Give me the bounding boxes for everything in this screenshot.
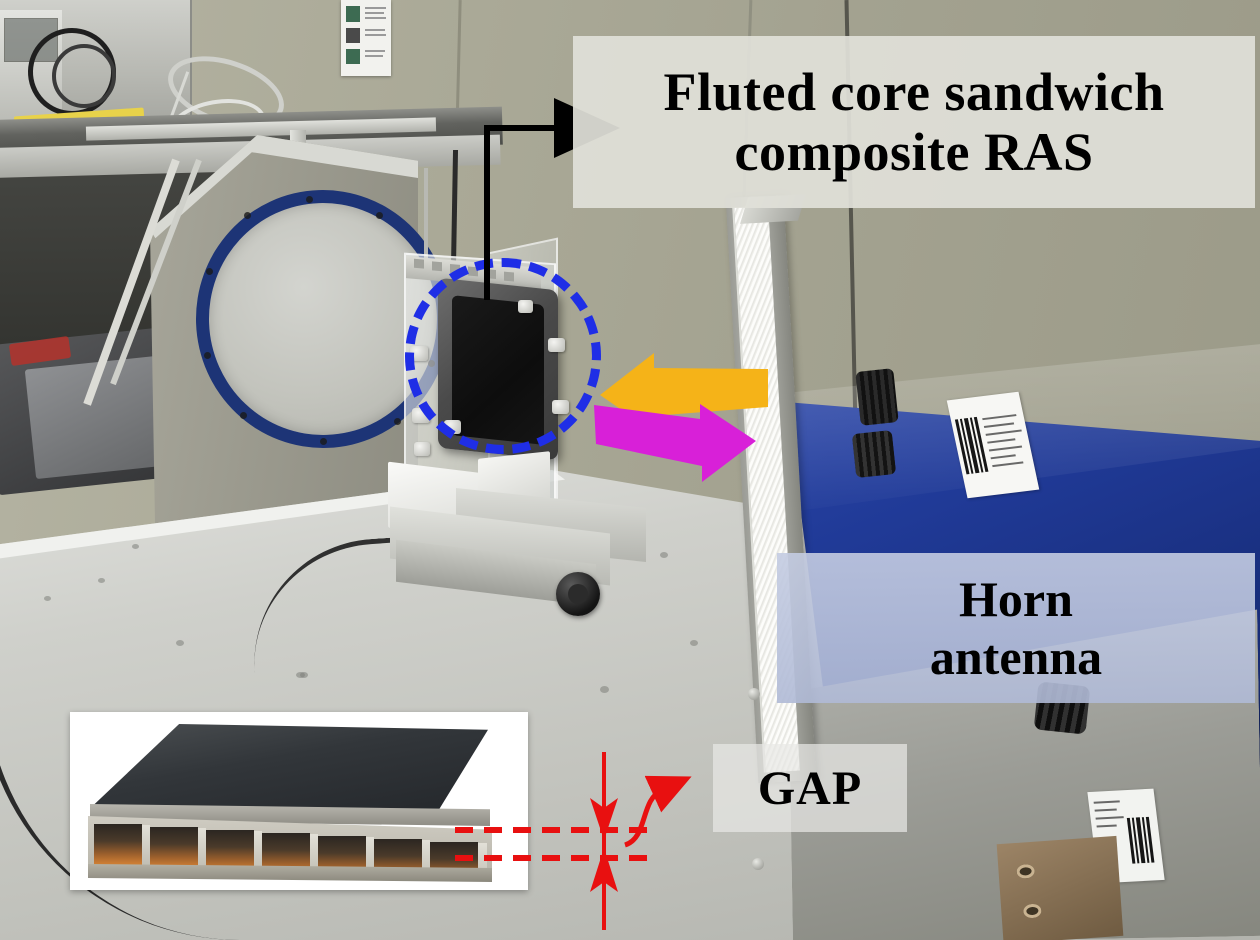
coiled-cable [52,44,116,108]
horn-adjust-knob[interactable] [852,430,896,478]
antenna-label-text: Hornantenna [930,570,1102,686]
table-hole [600,686,609,693]
sample-label-line1: Fluted core sandwich [663,62,1164,122]
sample-label-line2: composite RAS [735,122,1094,182]
fixture-bolt [414,442,430,456]
ring-bolt [320,438,327,445]
mounting-bracket [997,836,1124,940]
table-hole [98,578,105,583]
antenna-label-box: Hornantenna [777,553,1255,703]
ring-bolt [376,212,383,219]
sample-label-text: Fluted core sandwichcomposite RAS [663,62,1164,183]
support-rod [424,168,428,268]
flange-bolt [752,858,764,870]
ring-bolt [306,196,313,203]
gap-label-box: GAP [713,744,907,832]
table-hole [660,552,668,558]
highlight-circle [405,258,601,454]
stage-adjust-knob-center [568,584,588,604]
flange-bolt [748,688,760,700]
table-hole [44,596,51,601]
sample-label-box: Fluted core sandwichcomposite RAS [573,36,1255,208]
ring-bolt [244,212,251,219]
ring-bolt [394,418,401,425]
antenna-label-line1: Horn [959,571,1073,627]
table-hole [690,640,698,646]
wall-poster [341,0,391,76]
figure-canvas: Fluted core sandwichcomposite RAS Hornan… [0,0,1260,940]
inset-cross-section-photo [70,712,528,890]
ring-bolt [240,412,247,419]
ring-bolt [204,352,211,359]
gap-label-text: GAP [758,761,862,816]
table-hole [132,544,139,549]
antenna-label-line2: antenna [930,629,1102,685]
horn-adjust-knob[interactable] [855,368,898,426]
ring-bolt [206,268,213,275]
